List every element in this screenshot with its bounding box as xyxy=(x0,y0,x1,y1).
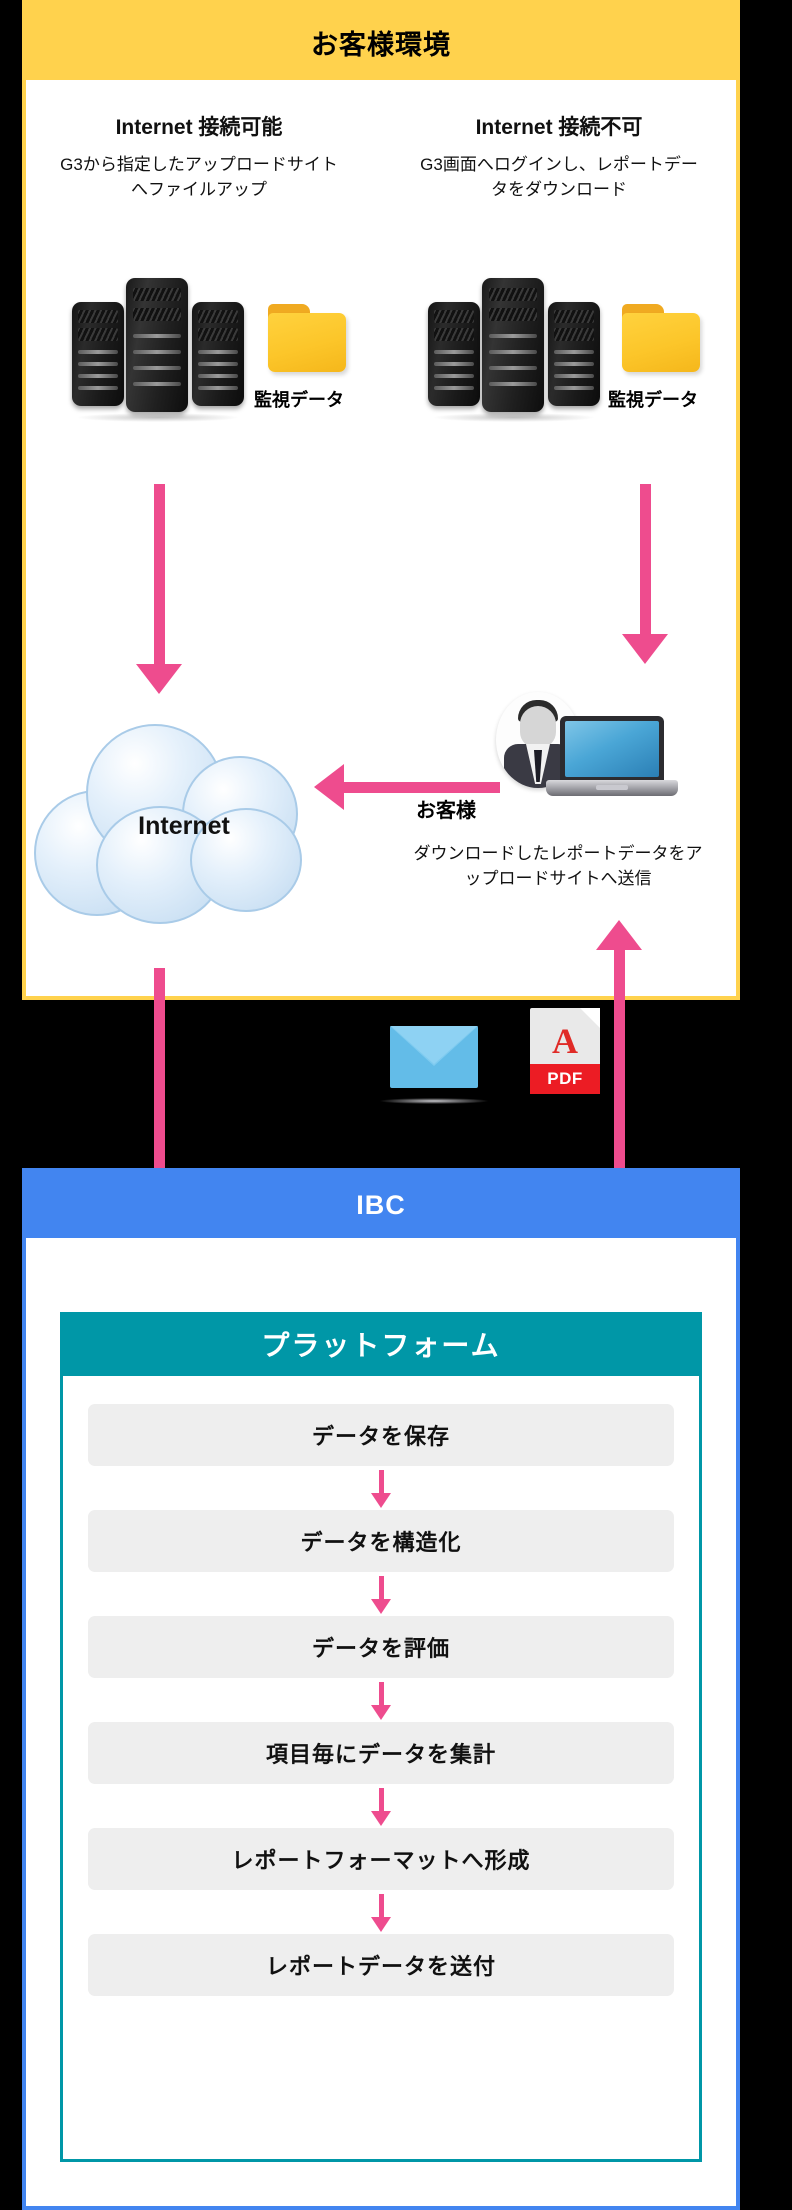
internet-unavailable-column: Internet 接続不可 G3画面へログインし、レポートデータをダウンロード xyxy=(394,114,724,203)
process-step: データを評価 xyxy=(88,1616,674,1678)
monitoring-data-caption-right: 監視データ xyxy=(608,386,698,412)
server-shadow xyxy=(78,413,238,422)
envelope-shadow xyxy=(380,1098,488,1104)
server-shadow xyxy=(434,413,594,422)
customer-note: ダウンロードしたレポートデータをアップロードサイトへ送信 xyxy=(408,842,708,891)
server-unit-right xyxy=(548,302,600,406)
server-unit-right xyxy=(192,302,244,406)
server-unit-center xyxy=(482,278,544,412)
process-step: データを構造化 xyxy=(88,1510,674,1572)
process-step: レポートフォーマットへ形成 xyxy=(88,1828,674,1890)
internet-available-column: Internet 接続可能 G3から指定したアップロードサイトへファイルアップ xyxy=(34,114,364,203)
step-arrow-icon xyxy=(88,1784,674,1828)
laptop-icon xyxy=(546,716,678,808)
server-unit-left xyxy=(72,302,124,406)
step-arrow-icon xyxy=(88,1572,674,1616)
folder-icon xyxy=(268,304,346,372)
step-arrow-icon xyxy=(88,1890,674,1934)
customer-label: お客様 xyxy=(416,794,476,823)
server-unit-center xyxy=(126,278,188,412)
server-rack-icon xyxy=(68,276,248,416)
internet-available-description: G3から指定したアップロードサイトへファイルアップ xyxy=(34,153,364,202)
process-step: データを保存 xyxy=(88,1404,674,1466)
process-step: 項目毎にデータを集計 xyxy=(88,1722,674,1784)
internet-unavailable-title: Internet 接続不可 xyxy=(394,114,724,141)
step-arrow-icon xyxy=(88,1466,674,1510)
internet-cloud-icon: Internet xyxy=(34,704,334,934)
internet-cloud-label: Internet xyxy=(34,812,334,841)
envelope-icon xyxy=(390,1026,478,1088)
step-arrow-icon xyxy=(88,1678,674,1722)
platform-header: プラットフォーム xyxy=(60,1312,702,1376)
pdf-label: PDF xyxy=(530,1064,600,1094)
process-step: レポートデータを送付 xyxy=(88,1934,674,1996)
customer-environment-panel: お客様環境 Internet 接続可能 G3から指定したアップロードサイトへファ… xyxy=(22,0,740,1000)
pdf-acrobat-glyph: A xyxy=(549,1024,581,1058)
flow-arrow-right-down xyxy=(622,484,668,664)
customer-environment-header: お客様環境 xyxy=(26,4,736,80)
process-step-list: データを保存 データを構造化 データを評価 項目毎にデータを集計 レポートフォー… xyxy=(88,1404,674,1996)
internet-available-title: Internet 接続可能 xyxy=(34,114,364,141)
ibc-header: IBC xyxy=(26,1172,736,1238)
pdf-file-icon: A PDF xyxy=(530,1008,600,1094)
ibc-panel: IBC プラットフォーム データを保存 データを構造化 データを評価 項目毎にデ… xyxy=(22,1168,740,2210)
server-unit-left xyxy=(428,302,480,406)
diagram-canvas: お客様環境 Internet 接続可能 G3から指定したアップロードサイトへファ… xyxy=(0,0,792,2210)
server-rack-icon xyxy=(424,276,604,416)
folder-icon xyxy=(622,304,700,372)
internet-unavailable-description: G3画面へログインし、レポートデータをダウンロード xyxy=(394,153,724,202)
monitoring-data-caption-left: 監視データ xyxy=(254,386,344,412)
flow-arrow-left-down xyxy=(136,484,182,694)
